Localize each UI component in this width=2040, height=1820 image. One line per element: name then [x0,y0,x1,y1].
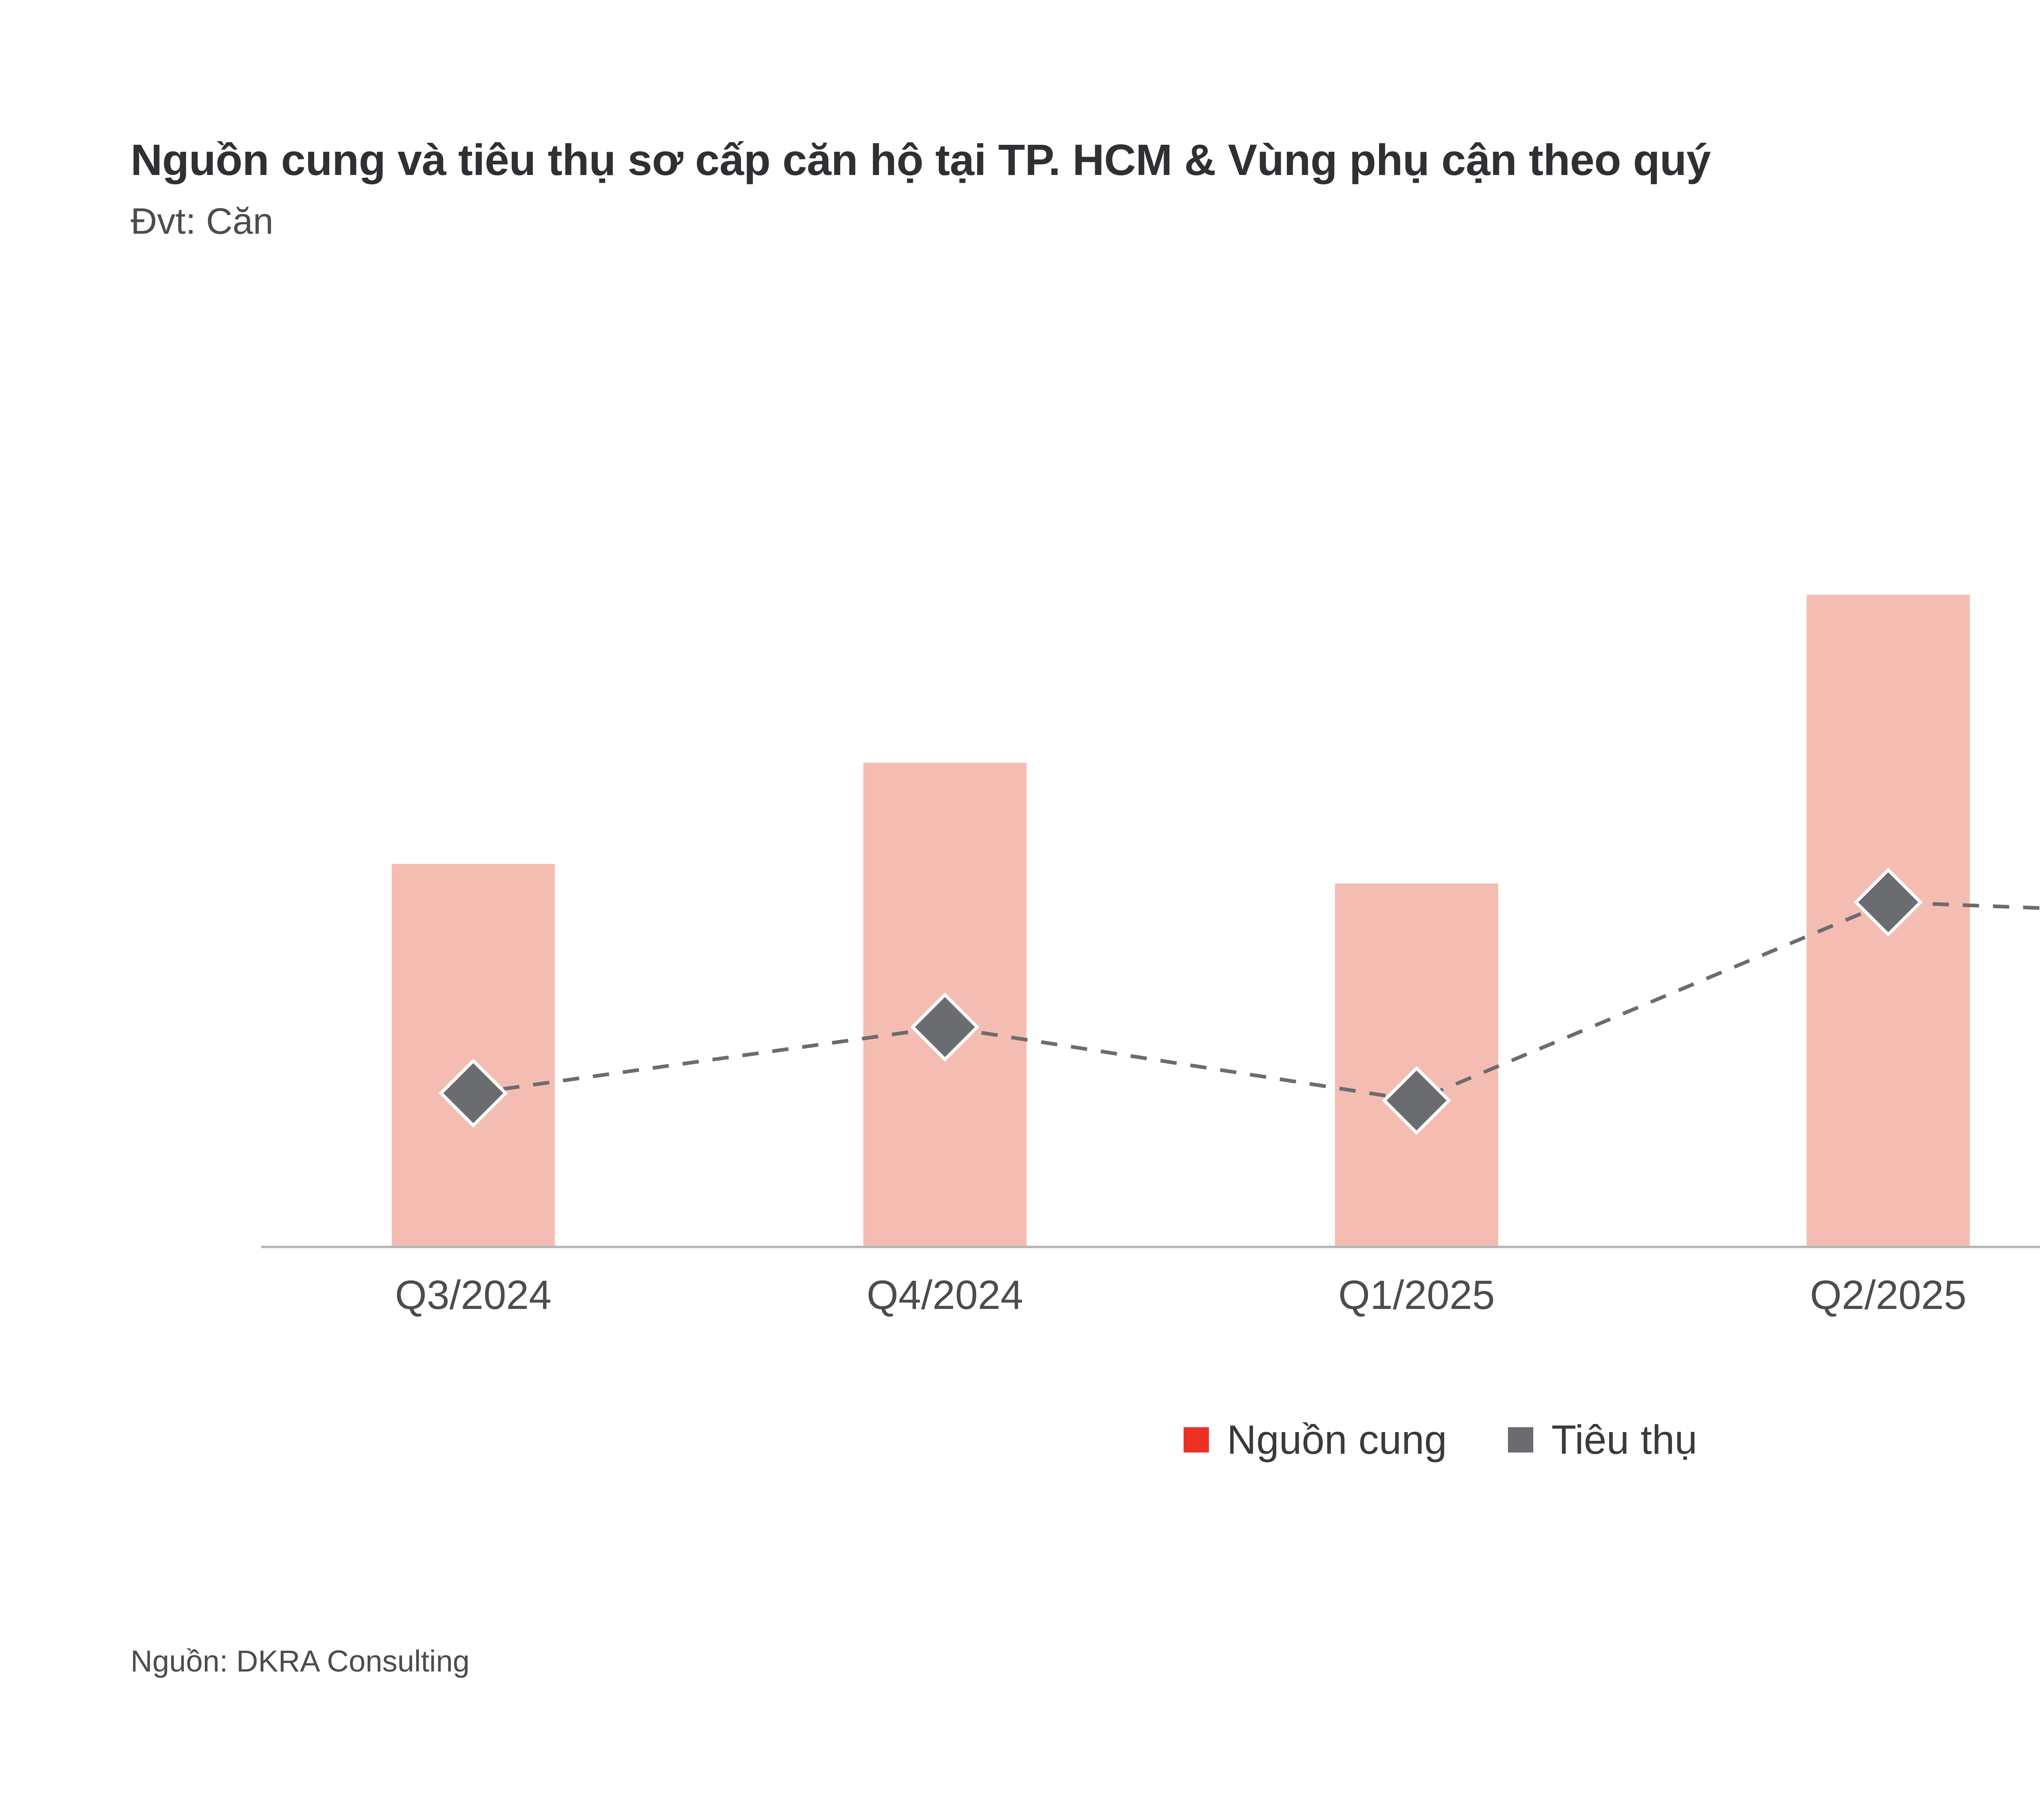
x-axis-labels: Q3/2024 Q4/2024 Q1/2025 Q2/2025 Q3/2025 [261,1273,2040,1346]
plot-inner: 15,426 8,253 [261,432,2040,1248]
legend-label-supply: Nguồn cung [1227,1419,1447,1460]
legend-label-absorption: Tiêu thụ [1551,1419,1697,1460]
x-tick-1: Q4/2024 [761,1273,1129,1317]
legend-item-absorption[interactable]: Tiêu thụ [1508,1419,1697,1460]
chart-subtitle: Đvt: Căn [131,201,2040,243]
legend-swatch-icon-absorption [1508,1427,1533,1452]
chart-header: Nguồn cung và tiêu thụ sơ cấp căn hộ tại… [131,135,2040,243]
x-tick-2: Q1/2025 [1233,1273,1600,1317]
source-note: Nguồn: DKRA Consulting [131,1644,470,1678]
legend-item-supply[interactable]: Nguồn cung [1184,1419,1447,1460]
page-title: Nguồn cung và tiêu thụ sơ cấp căn hộ tại… [131,135,2040,185]
x-tick-3: Q2/2025 [1705,1273,2040,1317]
x-axis-line [261,1246,2040,1248]
data-labels-layer: 15,426 8,253 [261,432,2040,1248]
x-tick-0: Q3/2024 [290,1273,657,1317]
legend-swatch-icon-supply [1184,1427,1209,1452]
chart-legend: Nguồn cung Tiêu thụ [0,1419,2040,1460]
chart-plot-area: 15,426 8,253 [261,432,2040,1273]
chart-page: Nguồn cung và tiêu thụ sơ cấp căn hộ tại… [0,0,2040,1820]
